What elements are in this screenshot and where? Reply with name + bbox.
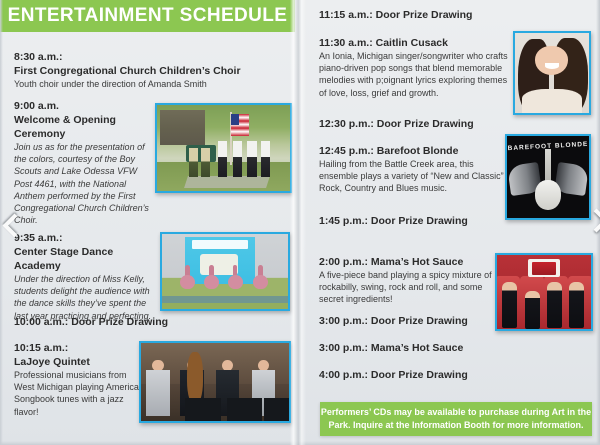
entry-time: 11:30 a.m.: Caitlin Cusack bbox=[319, 36, 515, 50]
band-member-shape bbox=[569, 282, 584, 328]
entry-time: 12:45 p.m.: Barefoot Blonde bbox=[319, 144, 509, 158]
flag-canton-shape bbox=[231, 114, 239, 125]
entry-act: Welcome & Opening Ceremony bbox=[14, 113, 152, 141]
photo-barefoot-blonde-logo: BAREFOOT BLONDE bbox=[505, 134, 591, 220]
entry-time: 12:30 p.m.: Door Prize Drawing bbox=[319, 117, 519, 131]
entry-time: 4:00 p.m.: Door Prize Drawing bbox=[319, 368, 519, 382]
entry-description: An Ionia, Michigan singer/songwriter who… bbox=[319, 50, 515, 99]
dancer-shape bbox=[253, 261, 268, 296]
right-page: 11:15 a.m.: Door Prize Drawing 11:30 a.m… bbox=[305, 0, 600, 445]
entry-time: 1:45 p.m.: Door Prize Drawing bbox=[319, 214, 519, 228]
entry-time: 2:00 p.m.: Mama’s Hot Sauce bbox=[319, 255, 505, 269]
entry-description: A five-piece band playing a spicy mixtur… bbox=[319, 269, 505, 306]
guitar-neck-shape bbox=[545, 149, 552, 183]
entry-description: Professional musicians from West Michiga… bbox=[14, 369, 144, 418]
entertainment-schedule-header: ENTERTAINMENT SCHEDULE bbox=[0, 0, 295, 32]
band-member-shape bbox=[547, 282, 562, 328]
musician-shape bbox=[145, 359, 170, 417]
entry-time: 3:00 p.m.: Door Prize Drawing bbox=[319, 314, 519, 328]
page-title: ENTERTAINMENT SCHEDULE bbox=[8, 5, 288, 27]
entry-time: 3:00 p.m.: Mama’s Hot Sauce bbox=[319, 341, 519, 355]
schedule-entry-0900: 9:00 a.m. Welcome & Opening Ceremony Joi… bbox=[14, 99, 152, 226]
schedule-entry-1015: 10:15 a.m.: LaJoye Quintet Professional … bbox=[14, 341, 144, 418]
performers-cd-note-banner: Performers’ CDs may be available to purc… bbox=[320, 402, 592, 436]
scout-shape bbox=[201, 148, 210, 177]
dancer-tutu bbox=[253, 275, 268, 289]
guitar-body-shape bbox=[535, 180, 561, 210]
schedule-entry-1000: 10:00 a.m.: Door Prize Drawing bbox=[14, 315, 284, 329]
entry-act: First Congregational Church Children’s C… bbox=[14, 64, 284, 78]
person-shape bbox=[218, 141, 227, 177]
entry-description: Youth choir under the direction of Amand… bbox=[14, 78, 284, 90]
schedule-entry-0300-door: 3:00 p.m.: Door Prize Drawing bbox=[319, 314, 519, 328]
page-edge-left bbox=[0, 0, 3, 445]
photo-caitlin-cusack-art bbox=[515, 33, 589, 113]
music-stand-shape bbox=[264, 398, 291, 421]
photo-lajoye-quintet bbox=[139, 341, 291, 423]
band-sign-inner bbox=[532, 262, 556, 276]
entry-time: 10:15 a.m.: bbox=[14, 341, 144, 355]
dancer-shape bbox=[180, 261, 195, 296]
schedule-entry-1115: 11:15 a.m.: Door Prize Drawing bbox=[319, 8, 589, 22]
person-shape bbox=[247, 141, 256, 177]
photo-dance-academy bbox=[160, 232, 290, 311]
schedule-entry-1245: 12:45 p.m.: Barefoot Blonde Hailing from… bbox=[319, 144, 509, 195]
music-stand-shape bbox=[227, 398, 263, 421]
entry-act: Center Stage Dance Academy bbox=[14, 245, 154, 273]
footer-note-line-2: Park. Inquire at the Information Booth f… bbox=[328, 419, 583, 432]
musician-torso bbox=[146, 370, 169, 416]
path-shape bbox=[184, 176, 270, 188]
entry-time: 8:30 a.m.: bbox=[14, 50, 284, 64]
person-shape bbox=[233, 141, 242, 177]
dancer-tutu bbox=[180, 275, 195, 289]
lawn-shape bbox=[162, 303, 288, 309]
magazine-spread: ENTERTAINMENT SCHEDULE 8:30 a.m.: First … bbox=[0, 0, 600, 445]
page-edge-bottom bbox=[0, 441, 600, 445]
face-shape bbox=[535, 46, 568, 75]
entry-time: 9:00 a.m. bbox=[14, 99, 152, 113]
schedule-entry-1230: 12:30 p.m.: Door Prize Drawing bbox=[319, 117, 519, 131]
entry-time: 10:00 a.m.: Door Prize Drawing bbox=[14, 315, 284, 329]
band-sign-shape bbox=[528, 259, 560, 277]
entry-description: Join us as for the presentation of the c… bbox=[14, 141, 152, 226]
photo-caitlin-cusack bbox=[513, 31, 591, 115]
smile-shape bbox=[545, 63, 558, 69]
music-stand-shape bbox=[185, 398, 221, 421]
banner-text-shape bbox=[192, 240, 247, 249]
photo-lajoye-quintet-art bbox=[141, 343, 289, 421]
entry-act: LaJoye Quintet bbox=[14, 355, 144, 369]
entry-time: 9:35 a.m.: bbox=[14, 231, 154, 245]
sweater-shape bbox=[522, 89, 581, 113]
left-page: ENTERTAINMENT SCHEDULE 8:30 a.m.: First … bbox=[0, 0, 295, 445]
dancer-tutu bbox=[228, 275, 243, 289]
schedule-entry-0935: 9:35 a.m.: Center Stage Dance Academy Un… bbox=[14, 231, 154, 322]
schedule-entry-0830: 8:30 a.m.: First Congregational Church C… bbox=[14, 50, 284, 90]
barefoot-blonde-logo-text: BAREFOOT BLONDE bbox=[507, 140, 589, 151]
photo-opening-ceremony bbox=[155, 103, 292, 193]
scout-shape bbox=[189, 148, 198, 177]
photo-barefoot-blonde-art: BAREFOOT BLONDE bbox=[507, 136, 589, 218]
photo-dance-academy-art bbox=[162, 234, 288, 309]
footer-note-line-1: Performers’ CDs may be available to purc… bbox=[321, 406, 591, 419]
dancer-shape bbox=[228, 261, 243, 296]
photo-opening-ceremony-art bbox=[157, 105, 290, 191]
schedule-entry-0300-mamas: 3:00 p.m.: Mama’s Hot Sauce bbox=[319, 341, 519, 355]
dancer-shape bbox=[204, 261, 219, 296]
person-shape bbox=[261, 141, 270, 177]
entry-time: 11:15 a.m.: Door Prize Drawing bbox=[319, 8, 589, 22]
entry-description: Hailing from the Battle Creek area, this… bbox=[319, 158, 509, 195]
dancer-tutu bbox=[204, 275, 219, 289]
schedule-entry-0145: 1:45 p.m.: Door Prize Drawing bbox=[319, 214, 519, 228]
band-member-shape bbox=[525, 291, 540, 329]
schedule-entry-0400: 4:00 p.m.: Door Prize Drawing bbox=[319, 368, 519, 382]
schedule-entry-0200: 2:00 p.m.: Mama’s Hot Sauce A five-piece… bbox=[319, 255, 505, 306]
schedule-entry-1130: 11:30 a.m.: Caitlin Cusack An Ionia, Mic… bbox=[319, 36, 515, 99]
pavilion-shape bbox=[160, 110, 205, 144]
